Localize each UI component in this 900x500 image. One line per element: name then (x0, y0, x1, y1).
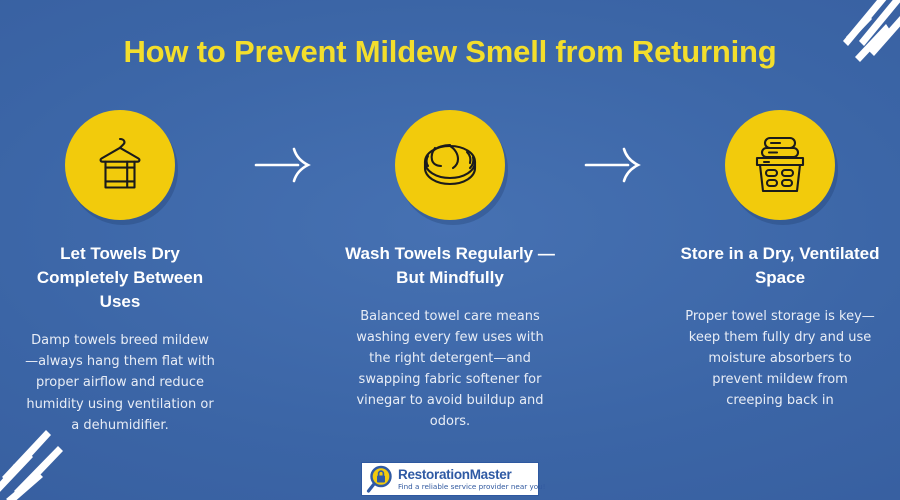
step-3-body: Proper towel storage is key—keep them fu… (685, 306, 875, 411)
step-1-heading: Let Towels Dry Completely Between Uses (15, 242, 225, 314)
logo-text-block: RestorationMaster Find a reliable servic… (398, 468, 546, 491)
towel-on-hanger-icon (84, 129, 156, 201)
step-card-3: Store in a Dry, Ventilated Space Proper … (660, 110, 900, 411)
towel-storage-basket-icon (743, 128, 817, 202)
page-title: How to Prevent Mildew Smell from Returni… (0, 34, 900, 70)
step-2-icon-badge (395, 110, 505, 220)
steps-row: Let Towels Dry Completely Between Uses D… (0, 110, 900, 436)
step-2-body: Balanced towel care means washing every … (355, 306, 545, 432)
arrow-right-icon (584, 143, 646, 187)
step-card-2: Wash Towels Regularly — But Mindfully Ba… (330, 110, 570, 433)
rolled-towel-icon (411, 126, 489, 204)
restorationmaster-logo[interactable]: RestorationMaster Find a reliable servic… (361, 462, 539, 496)
arrow-right-icon (254, 143, 316, 187)
infographic-canvas: How to Prevent Mildew Smell from Returni… (0, 0, 900, 500)
step-1-icon-badge (65, 110, 175, 220)
logo-tagline: Find a reliable service provider near yo… (398, 483, 546, 490)
connector-slot-2 (570, 110, 660, 220)
step-2-heading: Wash Towels Regularly — But Mindfully (345, 242, 555, 290)
step-card-1: Let Towels Dry Completely Between Uses D… (0, 110, 240, 436)
step-3-icon-badge (725, 110, 835, 220)
connector-slot-1 (240, 110, 330, 220)
step-1-body: Damp towels breed mildew—always hang the… (25, 330, 215, 435)
step-3-heading: Store in a Dry, Ventilated Space (675, 242, 885, 290)
magnifying-glass-lock-icon (366, 464, 396, 494)
logo-name: RestorationMaster (398, 468, 546, 482)
